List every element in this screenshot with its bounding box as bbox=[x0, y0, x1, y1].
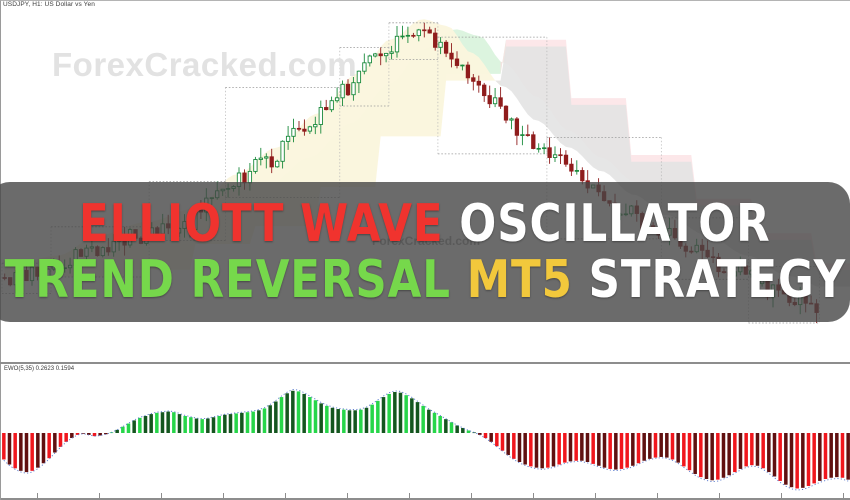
histogram-bar-negative bbox=[489, 433, 493, 442]
oscillator-label: EWO(5,35) 0.2623 0.1594 bbox=[4, 366, 74, 372]
candle-body-bearish bbox=[428, 30, 431, 33]
candle-body-bearish bbox=[325, 108, 328, 110]
title-word: WAVE bbox=[300, 197, 443, 251]
histogram-bar-negative bbox=[557, 433, 561, 465]
candle-body-bearish bbox=[581, 171, 584, 181]
histogram-bar-negative bbox=[47, 433, 51, 458]
histogram-bar-positive bbox=[229, 414, 233, 433]
histogram-bar-positive bbox=[325, 406, 329, 433]
histogram-bar-negative bbox=[705, 433, 709, 479]
histogram-bar-positive bbox=[206, 419, 210, 434]
histogram-bar-positive bbox=[382, 397, 386, 433]
histogram-bar-negative bbox=[580, 433, 584, 461]
histogram-bar-negative bbox=[693, 433, 697, 474]
histogram-bar-negative bbox=[688, 433, 692, 470]
histogram-bar-negative bbox=[19, 433, 23, 471]
histogram-bar-negative bbox=[676, 433, 680, 463]
candle-body-bullish bbox=[363, 63, 366, 71]
histogram-bar-negative bbox=[790, 433, 794, 487]
histogram-bar-negative bbox=[563, 433, 567, 463]
candle-body-bearish bbox=[434, 33, 437, 47]
symbol-label: USDJPY, H1: US Dollar vs Yen bbox=[3, 1, 95, 8]
candle-body-bullish bbox=[368, 56, 371, 63]
histogram-bar-negative bbox=[104, 433, 108, 434]
histogram-bar-negative bbox=[733, 433, 737, 472]
histogram-bar-positive bbox=[161, 412, 165, 433]
histogram-bar-positive bbox=[263, 408, 267, 433]
histogram-bar-negative bbox=[512, 433, 516, 459]
candle-body-bearish bbox=[532, 135, 535, 149]
candle-body-bearish bbox=[303, 129, 306, 131]
candle-body-bearish bbox=[455, 59, 458, 66]
candle-body-bullish bbox=[259, 158, 262, 159]
histogram-bar-negative bbox=[30, 433, 34, 471]
histogram-bar-negative bbox=[784, 433, 788, 485]
chart-screenshot: USDJPY, H1: US Dollar vs Yen ForexCracke… bbox=[0, 0, 850, 500]
histogram-bar-positive bbox=[404, 395, 408, 433]
histogram-bar-negative bbox=[682, 433, 686, 466]
histogram-bar-negative bbox=[586, 433, 590, 462]
candle-body-bullish bbox=[417, 30, 420, 36]
candle-body-bullish bbox=[330, 101, 333, 110]
histogram-bar-positive bbox=[189, 417, 193, 433]
candle-body-bearish bbox=[472, 78, 475, 82]
histogram-bar-negative bbox=[529, 433, 533, 466]
candle-body-bullish bbox=[319, 108, 322, 125]
candle-body-bullish bbox=[281, 141, 284, 161]
histogram-bar-negative bbox=[574, 433, 578, 461]
histogram-bar-negative bbox=[648, 433, 652, 459]
histogram-bar-negative bbox=[13, 433, 17, 468]
histogram-bar-positive bbox=[274, 401, 278, 433]
histogram-bar-negative bbox=[767, 433, 771, 472]
candle-body-bearish bbox=[466, 65, 469, 78]
oscillator-signal-line bbox=[4, 390, 848, 491]
histogram-bar-positive bbox=[336, 409, 340, 433]
histogram-bar-positive bbox=[365, 408, 369, 433]
histogram-bar-positive bbox=[410, 398, 414, 433]
histogram-bar-negative bbox=[546, 433, 550, 468]
histogram-bar-negative bbox=[642, 433, 646, 461]
histogram-bar-negative bbox=[620, 433, 624, 469]
histogram-bar-positive bbox=[393, 392, 397, 433]
histogram-bar-positive bbox=[450, 422, 454, 433]
candle-body-bullish bbox=[352, 83, 355, 95]
title-line-2: TRENDREVERSALMT5STRATEGY bbox=[4, 253, 845, 307]
title-line-1: ELLIOTTWAVEOSCILLATOR bbox=[79, 197, 771, 251]
histogram-bar-positive bbox=[155, 413, 159, 433]
histogram-bar-positive bbox=[427, 410, 431, 433]
histogram-bar-negative bbox=[744, 433, 748, 466]
histogram-bar-positive bbox=[376, 401, 380, 433]
oscillator-histogram bbox=[2, 391, 850, 489]
candle-body-bullish bbox=[314, 125, 317, 127]
histogram-bar-positive bbox=[280, 397, 284, 433]
histogram-bar-negative bbox=[93, 433, 97, 436]
histogram-bar-positive bbox=[121, 427, 125, 433]
candle-body-bullish bbox=[341, 84, 344, 98]
histogram-bar-positive bbox=[149, 414, 153, 433]
histogram-bar-positive bbox=[331, 408, 335, 433]
histogram-bar-positive bbox=[438, 416, 442, 433]
histogram-bar-negative bbox=[518, 433, 522, 462]
histogram-bar-negative bbox=[773, 433, 777, 477]
histogram-bar-negative bbox=[70, 433, 74, 438]
histogram-bar-negative bbox=[699, 433, 703, 477]
candle-body-bearish bbox=[450, 53, 453, 59]
histogram-bar-negative bbox=[591, 433, 595, 464]
histogram-bar-positive bbox=[138, 418, 142, 433]
histogram-bar-negative bbox=[625, 433, 629, 468]
histogram-bar-negative bbox=[727, 433, 731, 475]
histogram-bar-negative bbox=[59, 433, 63, 447]
candle-body-bullish bbox=[384, 53, 387, 55]
histogram-bar-negative bbox=[716, 433, 720, 480]
histogram-bar-positive bbox=[387, 394, 391, 433]
histogram-bar-negative bbox=[750, 433, 754, 465]
candle-body-bullish bbox=[374, 54, 377, 56]
histogram-bar-negative bbox=[739, 433, 743, 469]
histogram-bar-negative bbox=[637, 433, 641, 463]
candle-body-bullish bbox=[265, 157, 268, 158]
histogram-bar-negative bbox=[756, 433, 760, 466]
histogram-bar-negative bbox=[812, 433, 816, 483]
histogram-bar-negative bbox=[501, 433, 505, 451]
candle-body-bearish bbox=[297, 128, 300, 129]
histogram-bar-negative bbox=[829, 433, 833, 478]
histogram-bar-negative bbox=[807, 433, 811, 486]
histogram-bar-positive bbox=[421, 406, 425, 433]
candle-body-bullish bbox=[395, 36, 398, 52]
histogram-bar-positive bbox=[319, 403, 323, 433]
histogram-bar-positive bbox=[433, 413, 437, 433]
candle-body-bullish bbox=[439, 42, 442, 47]
candle-body-bearish bbox=[564, 155, 567, 164]
candle-body-bearish bbox=[499, 98, 502, 106]
candle-body-bullish bbox=[335, 98, 338, 101]
histogram-bar-positive bbox=[132, 420, 136, 433]
candle-body-bullish bbox=[401, 36, 404, 37]
candle-body-bearish bbox=[488, 96, 491, 104]
candle-body-bullish bbox=[308, 127, 311, 131]
histogram-bar-negative bbox=[603, 433, 607, 468]
histogram-bar-positive bbox=[144, 416, 148, 433]
histogram-bar-negative bbox=[597, 433, 601, 466]
histogram-bar-positive bbox=[455, 425, 459, 433]
histogram-bar-positive bbox=[467, 430, 471, 433]
histogram-bar-positive bbox=[178, 414, 182, 433]
histogram-bar-positive bbox=[251, 412, 255, 433]
candle-body-bullish bbox=[461, 65, 464, 66]
candle-body-bullish bbox=[390, 52, 393, 54]
histogram-bar-negative bbox=[722, 433, 726, 478]
histogram-bar-negative bbox=[608, 433, 612, 469]
histogram-bar-positive bbox=[314, 400, 318, 433]
histogram-bar-negative bbox=[818, 433, 822, 481]
histogram-bar-positive bbox=[285, 393, 289, 433]
histogram-bar-positive bbox=[234, 413, 238, 433]
histogram-bar-positive bbox=[342, 410, 346, 433]
histogram-bar-negative bbox=[64, 433, 68, 442]
candle-body-bearish bbox=[444, 42, 447, 53]
histogram-bar-negative bbox=[659, 433, 663, 457]
histogram-bar-positive bbox=[302, 394, 306, 433]
histogram-bar-negative bbox=[761, 433, 765, 468]
histogram-bar-negative bbox=[569, 433, 573, 461]
histogram-bar-positive bbox=[444, 419, 448, 433]
histogram-bar-positive bbox=[268, 405, 272, 433]
title-word: ELLIOTT bbox=[79, 197, 284, 251]
histogram-bar-positive bbox=[353, 410, 357, 433]
candle-body-bearish bbox=[477, 81, 480, 85]
histogram-bar-negative bbox=[778, 433, 782, 481]
candle-body-bullish bbox=[286, 136, 289, 141]
title-block: ELLIOTTWAVEOSCILLATOR TRENDREVERSALMT5ST… bbox=[0, 182, 850, 322]
histogram-bar-negative bbox=[506, 433, 510, 455]
candle-body-bullish bbox=[553, 155, 556, 158]
histogram-bar-negative bbox=[53, 433, 57, 453]
oscillator-panel[interactable]: ForexCracked.com EWO(5,35) 0.2623 0.1594 bbox=[0, 364, 850, 500]
histogram-bar-negative bbox=[671, 433, 675, 459]
title-word: STRATEGY bbox=[588, 253, 845, 307]
histogram-bar-negative bbox=[25, 433, 29, 472]
histogram-bar-positive bbox=[183, 416, 187, 433]
candle-body-bullish bbox=[537, 148, 540, 149]
histogram-bar-positive bbox=[359, 410, 363, 433]
histogram-bar-positive bbox=[217, 416, 221, 433]
candle-body-bearish bbox=[559, 155, 562, 156]
histogram-bar-positive bbox=[127, 424, 131, 433]
histogram-bar-negative bbox=[824, 433, 828, 479]
histogram-bar-negative bbox=[552, 433, 556, 466]
title-word: MT5 bbox=[466, 253, 572, 307]
candle-body-bearish bbox=[483, 85, 486, 96]
histogram-bar-positive bbox=[308, 397, 312, 433]
histogram-bar-positive bbox=[246, 412, 250, 433]
candle-body-bullish bbox=[292, 128, 295, 136]
histogram-bar-negative bbox=[535, 433, 539, 468]
candle-body-bullish bbox=[510, 119, 513, 120]
histogram-bar-negative bbox=[846, 433, 850, 480]
histogram-bar-negative bbox=[801, 433, 805, 488]
title-word: OSCILLATOR bbox=[460, 197, 771, 251]
histogram-bar-positive bbox=[200, 419, 204, 433]
histogram-bar-negative bbox=[631, 433, 635, 466]
candle-body-bearish bbox=[346, 84, 349, 95]
title-word: TREND bbox=[4, 253, 174, 307]
candle-body-bearish bbox=[423, 30, 426, 31]
histogram-bar-positive bbox=[297, 391, 301, 433]
candle-body-bearish bbox=[570, 164, 573, 171]
histogram-bar-positive bbox=[348, 410, 352, 433]
candle-body-bearish bbox=[548, 148, 551, 158]
histogram-bar-negative bbox=[42, 433, 46, 463]
histogram-bar-negative bbox=[495, 433, 499, 446]
histogram-bar-positive bbox=[416, 402, 420, 433]
candle-body-bearish bbox=[270, 157, 273, 167]
candle-body-bullish bbox=[543, 148, 546, 149]
candle-body-bullish bbox=[276, 161, 279, 167]
histogram-bar-positive bbox=[212, 417, 216, 433]
histogram-bar-positive bbox=[291, 391, 295, 433]
histogram-bar-positive bbox=[257, 410, 261, 433]
histogram-bar-negative bbox=[795, 433, 799, 488]
histogram-bar-positive bbox=[370, 405, 374, 433]
histogram-bar-negative bbox=[484, 433, 488, 438]
histogram-bar-positive bbox=[115, 430, 119, 433]
histogram-bar-negative bbox=[540, 433, 544, 468]
histogram-bar-negative bbox=[835, 433, 839, 477]
candle-body-bullish bbox=[493, 98, 496, 104]
histogram-bar-positive bbox=[172, 412, 176, 433]
histogram-bar-positive bbox=[223, 415, 227, 433]
candle-body-bearish bbox=[515, 119, 518, 135]
histogram-bar-positive bbox=[166, 412, 170, 433]
histogram-bar-positive bbox=[195, 419, 199, 434]
histogram-bar-negative bbox=[36, 433, 40, 468]
histogram-bar-positive bbox=[399, 393, 403, 433]
title-word: REVERSAL bbox=[190, 253, 450, 307]
candle-body-bullish bbox=[521, 135, 524, 136]
histogram-bar-negative bbox=[8, 433, 12, 465]
candle-body-bullish bbox=[357, 71, 360, 83]
candle-body-bullish bbox=[575, 171, 578, 172]
oscillator-canvas bbox=[1, 364, 850, 500]
candle-body-bearish bbox=[504, 106, 507, 120]
candle-body-bearish bbox=[379, 54, 382, 56]
candle-body-bullish bbox=[254, 160, 257, 172]
histogram-bar-negative bbox=[2, 433, 6, 459]
candle-body-bearish bbox=[412, 35, 415, 36]
histogram-bar-negative bbox=[665, 433, 669, 458]
histogram-bar-negative bbox=[654, 433, 658, 458]
histogram-bar-negative bbox=[523, 433, 527, 465]
histogram-bar-negative bbox=[614, 433, 618, 470]
histogram-bar-negative bbox=[841, 433, 845, 478]
candle-body-bullish bbox=[406, 35, 409, 36]
histogram-bar-positive bbox=[240, 413, 244, 433]
candle-body-bearish bbox=[526, 135, 529, 136]
histogram-bar-negative bbox=[710, 433, 714, 480]
